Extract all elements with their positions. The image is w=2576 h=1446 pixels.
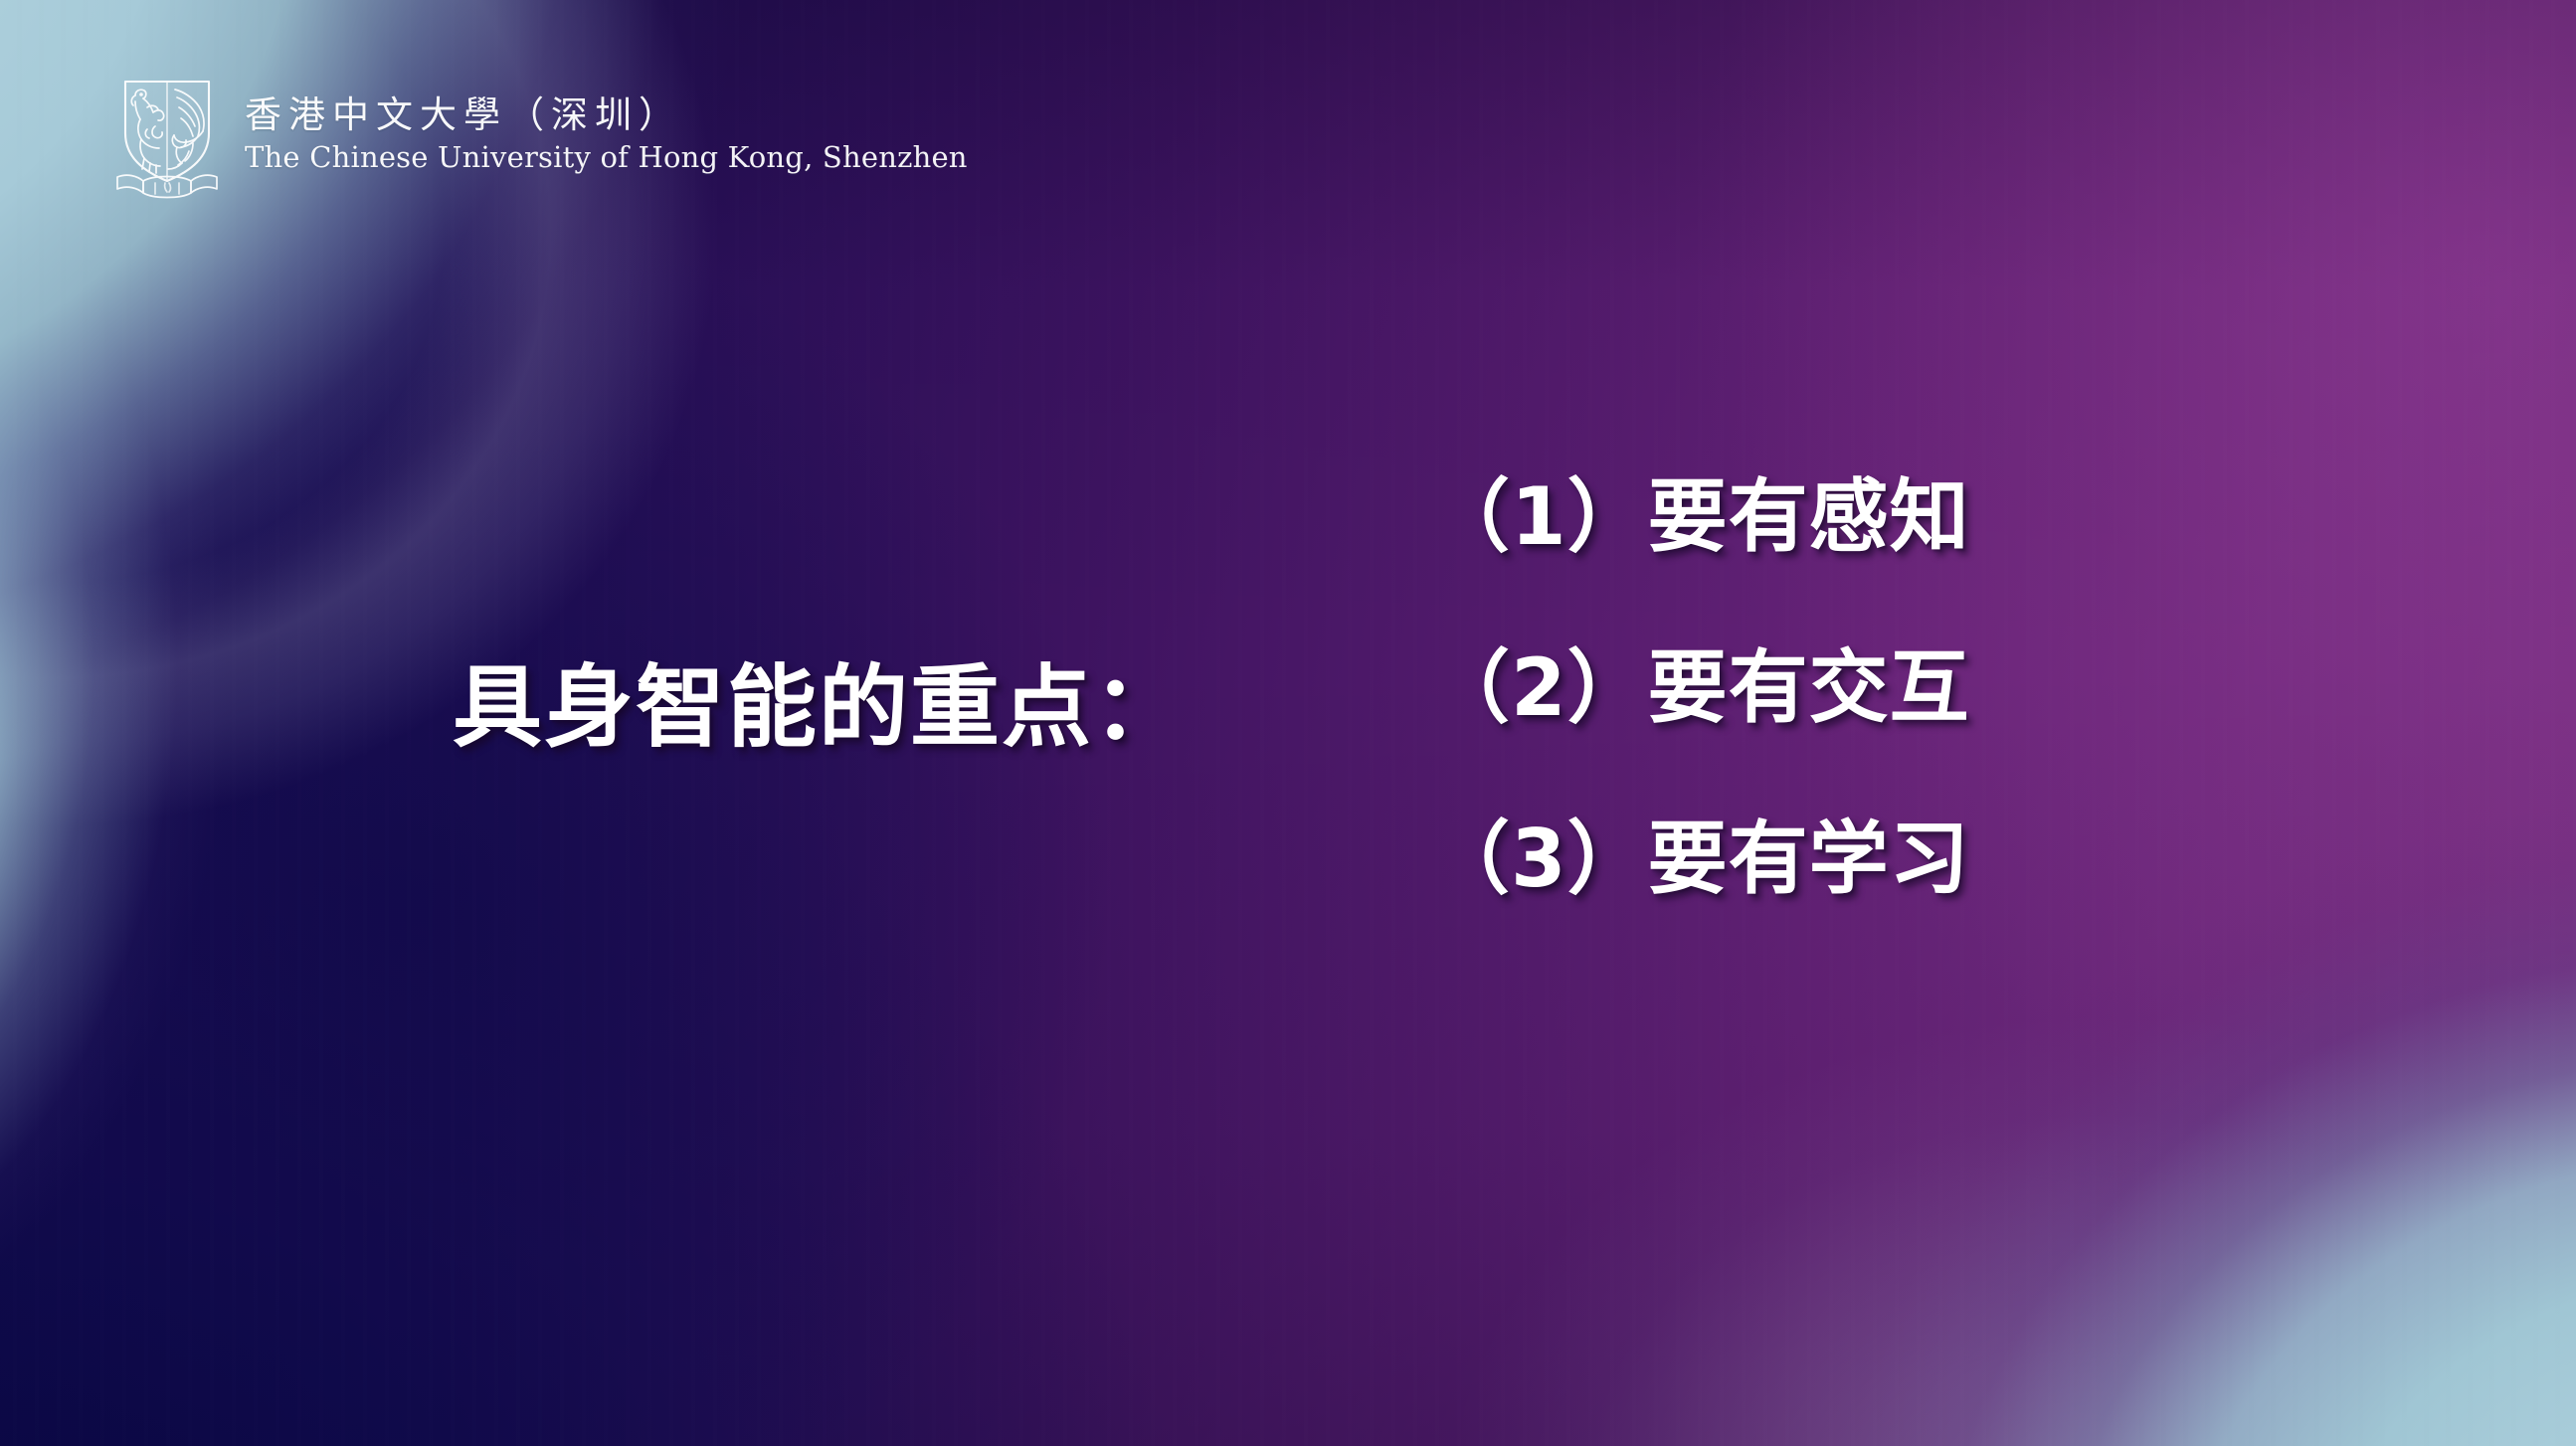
background-base-gradient [0, 0, 2576, 1446]
university-name-block: 香港中文大學（深圳） The Chinese University of Hon… [245, 93, 968, 181]
background-blue-lobe-bottom-right [0, 0, 2576, 1446]
key-point-1: （1）要有感知 [1430, 477, 1970, 557]
background-streak-texture [0, 0, 2576, 1446]
university-logo: 香港中文大學（深圳） The Chinese University of Hon… [111, 72, 968, 203]
background-lavender-halo-bottom-right [0, 0, 2576, 1446]
background-magenta-glow [0, 0, 2576, 1446]
slide-canvas: 香港中文大學（深圳） The Chinese University of Hon… [0, 0, 2576, 1446]
background-vertical-shade [0, 0, 2576, 1446]
background-navy-mid-left [0, 0, 2576, 1446]
background-lavender-halo-top-left [0, 0, 2576, 1446]
key-point-2: （2）要有交互 [1430, 648, 1970, 728]
university-name-en: The Chinese University of Hong Kong, She… [245, 139, 968, 177]
background-navy-lower-left [0, 0, 2576, 1446]
background-blue-lobe-top-left [0, 0, 2576, 1446]
background-blue-lobe-left-tail [0, 0, 2576, 1446]
slide-headline: 具身智能的重点： [453, 663, 1185, 753]
university-name-cn: 香港中文大學（深圳） [245, 93, 968, 137]
cuhk-shield-crest-icon [111, 72, 223, 203]
key-points-list: （1）要有感知 （2）要有交互 （3）要有学习 [1430, 477, 1970, 899]
key-point-3: （3）要有学习 [1430, 819, 1970, 899]
